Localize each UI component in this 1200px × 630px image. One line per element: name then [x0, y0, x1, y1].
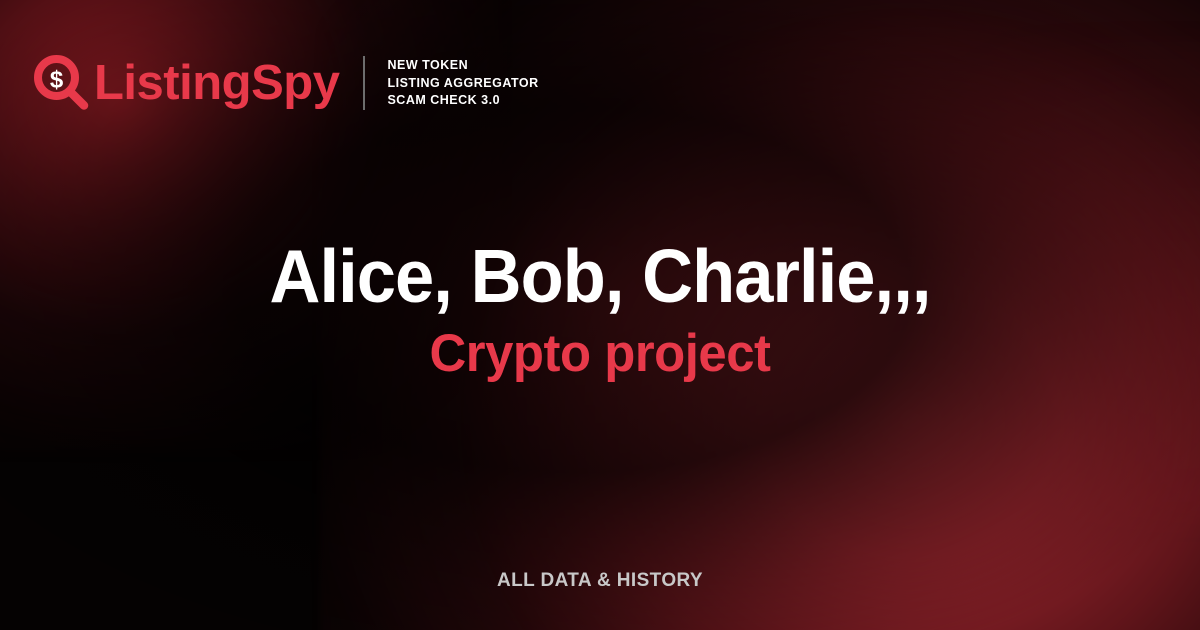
header-divider [363, 56, 365, 110]
hero-block: Alice, Bob, Charlie,,, Crypto project [0, 238, 1200, 382]
footer-caption: ALL DATA & HISTORY [497, 570, 703, 591]
footer-block: ALL DATA & HISTORY [0, 570, 1200, 592]
svg-text:$: $ [50, 67, 64, 94]
magnifier-dollar-icon: $ [32, 54, 90, 112]
brand-tagline: NEW TOKEN LISTING AGGREGATOR SCAM CHECK … [387, 58, 538, 108]
promo-banner: $ ListingSpy NEW TOKEN LISTING AGGREGATO… [0, 0, 1200, 630]
brand-wordmark: ListingSpy [94, 59, 339, 108]
brand-header: $ ListingSpy NEW TOKEN LISTING AGGREGATO… [32, 54, 539, 112]
page-title: Alice, Bob, Charlie,,, [92, 238, 1107, 315]
tagline-line-3: SCAM CHECK 3.0 [387, 93, 538, 108]
page-subtitle: Crypto project [82, 325, 1119, 382]
tagline-line-2: LISTING AGGREGATOR [387, 76, 538, 91]
tagline-line-1: NEW TOKEN [387, 58, 538, 73]
